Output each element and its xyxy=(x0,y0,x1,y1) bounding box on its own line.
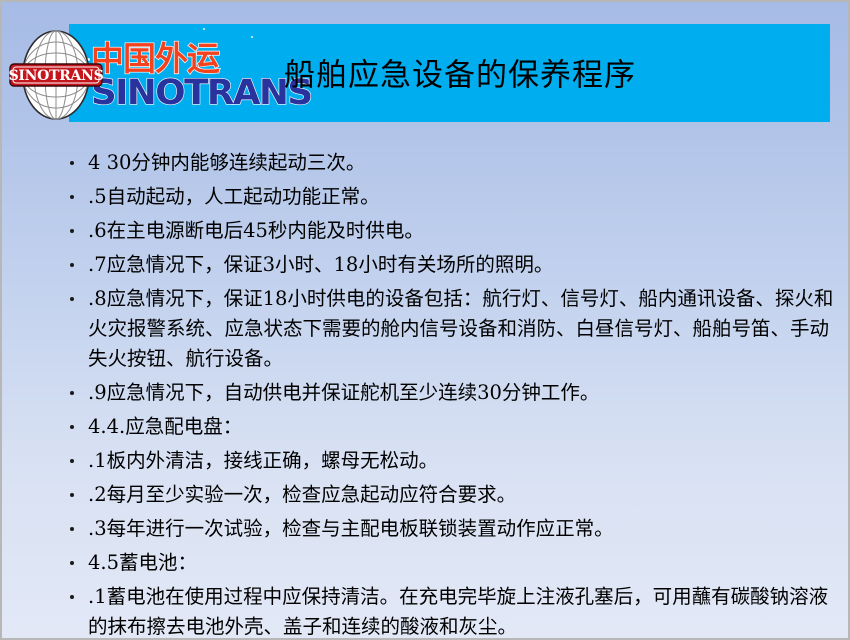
sparkle-icon xyxy=(203,28,205,30)
list-item-text: .9应急情况下，自动供电并保证舵机至少连续30分钟工作。 xyxy=(88,378,842,408)
page-title: 船舶应急设备的保养程序 xyxy=(284,50,636,95)
list-item: .2每月至少实验一次，检查应急起动应符合要求。 xyxy=(64,480,842,510)
list-item: 4.5蓄电池： xyxy=(64,548,842,578)
list-item: .5自动起动，人工起动功能正常。 xyxy=(64,182,842,212)
list-item: .1板内外清洁，接线正确，螺母无松动。 xyxy=(64,446,842,476)
sparkle-icon xyxy=(251,36,253,38)
list-item-text: 4 30分钟内能够连续起动三次。 xyxy=(88,148,842,178)
list-item-text: .5自动起动，人工起动功能正常。 xyxy=(88,182,842,212)
svg-text:SINOTRANS: SINOTRANS xyxy=(9,68,104,84)
list-item: .1蓄电池在使用过程中应保持清洁。在充电完毕旋上注液孔塞后，可用蘸有碳酸钠溶液的… xyxy=(64,582,842,640)
list-item-text: .2每月至少实验一次，检查应急起动应符合要求。 xyxy=(88,480,842,510)
list-item: 4 30分钟内能够连续起动三次。 xyxy=(64,148,842,178)
list-item: .3每年进行一次试验，检查与主配电板联锁装置动作应正常。 xyxy=(64,514,842,544)
wordmark-english: SINOTRANS xyxy=(91,73,312,113)
list-item-text: .8应急情况下，保证18小时供电的设备包括：航行灯、信号灯、船内通讯设备、探火和… xyxy=(88,284,842,374)
sinotrans-wordmark: 中国外运 SINOTRANS xyxy=(91,30,271,118)
bullet-list: 4 30分钟内能够连续起动三次。 .5自动起动，人工起动功能正常。 .6在主电源… xyxy=(64,148,842,640)
list-item: 4.4.应急配电盘： xyxy=(64,412,842,442)
list-item-text: .1板内外清洁，接线正确，螺母无松动。 xyxy=(88,446,842,476)
slide-canvas: 中国外运 SINOTRANS 船舶应急设备的保养程序 SINOTRANS 4 3… xyxy=(0,0,850,640)
list-item: .6在主电源断电后45秒内能及时供电。 xyxy=(64,216,842,246)
list-item-text: .7应急情况下，保证3小时、18小时有关场所的照明。 xyxy=(88,250,842,280)
list-item-text: .3每年进行一次试验，检查与主配电板联锁装置动作应正常。 xyxy=(88,514,842,544)
list-item-text: 4.4.应急配电盘： xyxy=(88,412,842,442)
list-item-text: .1蓄电池在使用过程中应保持清洁。在充电完毕旋上注液孔塞后，可用蘸有碳酸钠溶液的… xyxy=(88,582,842,640)
list-item: .8应急情况下，保证18小时供电的设备包括：航行灯、信号灯、船内通讯设备、探火和… xyxy=(64,284,842,374)
list-item-text: .6在主电源断电后45秒内能及时供电。 xyxy=(88,216,842,246)
list-item-text: 4.5蓄电池： xyxy=(88,548,842,578)
list-item: .9应急情况下，自动供电并保证舵机至少连续30分钟工作。 xyxy=(64,378,842,408)
title-banner: 中国外运 SINOTRANS 船舶应急设备的保养程序 xyxy=(69,24,830,122)
sinotrans-globe-logo: SINOTRANS xyxy=(8,28,104,122)
list-item: .7应急情况下，保证3小时、18小时有关场所的照明。 xyxy=(64,250,842,280)
